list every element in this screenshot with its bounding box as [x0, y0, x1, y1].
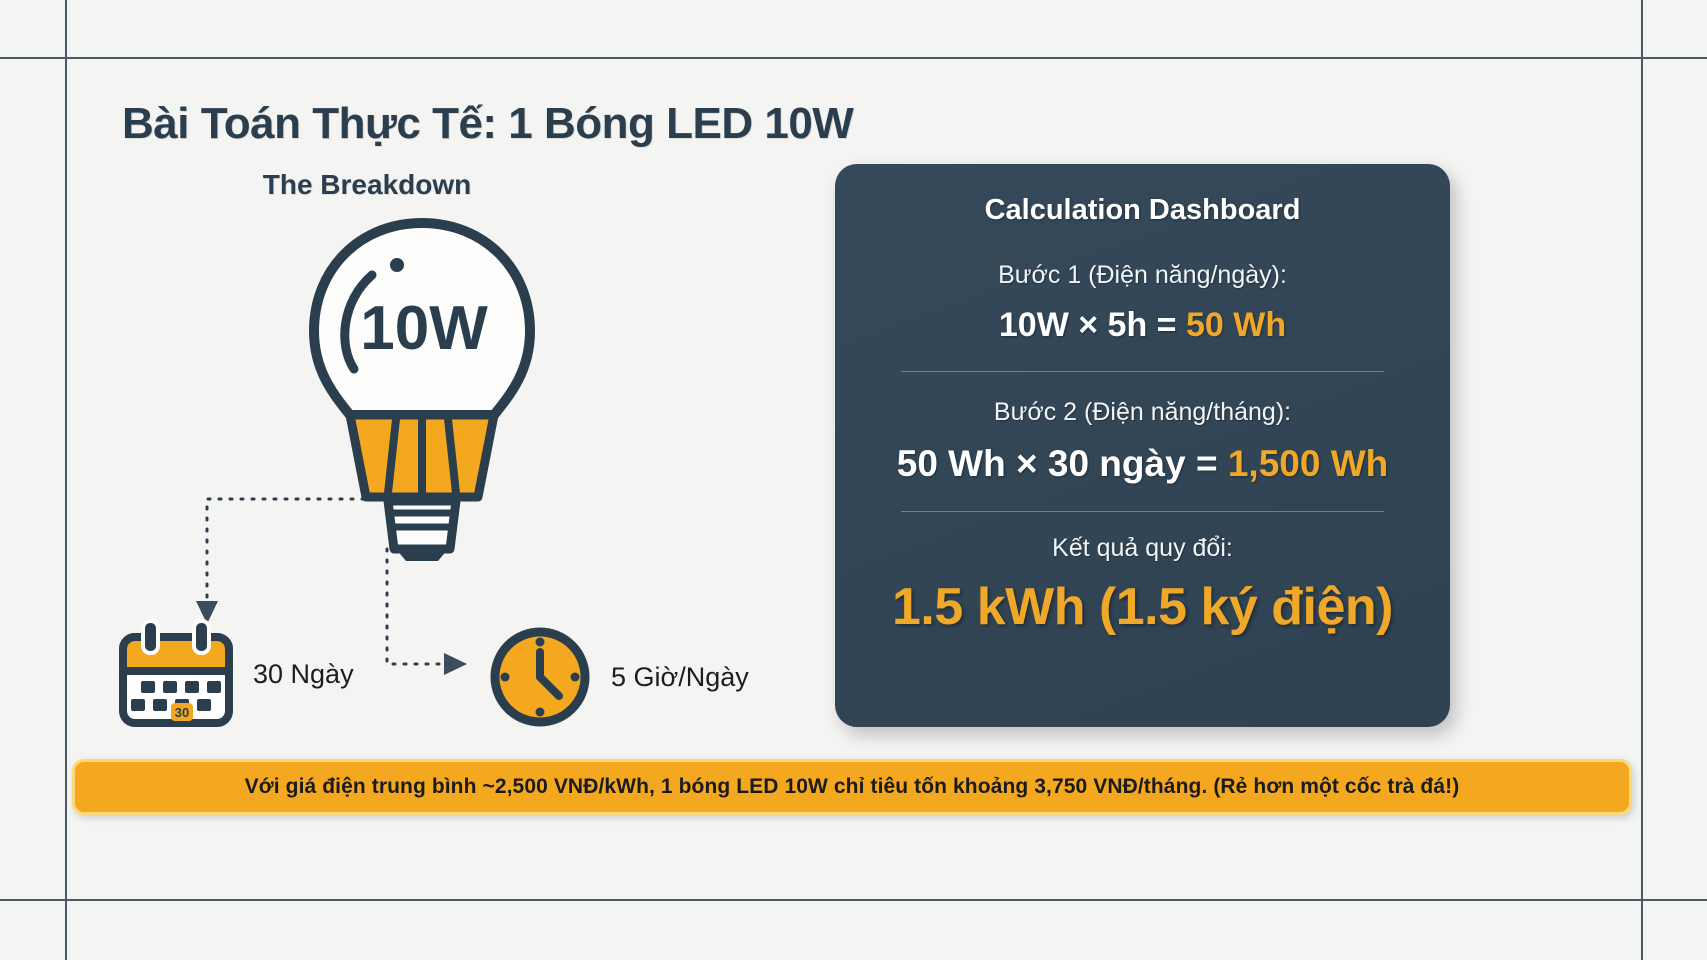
bulb-shine-dot: [390, 258, 404, 272]
step-1-equation: 10W × 5h = 50 Wh: [865, 306, 1420, 345]
dashboard-divider-1: [901, 371, 1384, 372]
page-title: Bài Toán Thực Tế: 1 Bóng LED 10W: [122, 99, 853, 149]
calendar-icon: 30: [117, 619, 235, 729]
frame-guide-line-left: [65, 0, 67, 960]
step-2-label: Bước 2 (Điện năng/tháng):: [865, 398, 1420, 427]
metric-hours-label: 5 Giờ/Ngày: [611, 662, 749, 693]
bulb-wattage-label: 10W: [360, 294, 488, 363]
frame-guide-line-right: [1641, 0, 1643, 960]
calendar-day-badge: 30: [175, 705, 189, 720]
step-1-equation-prefix: 10W × 5h =: [999, 306, 1186, 344]
step-1-equation-result: 50 Wh: [1186, 306, 1286, 344]
breakdown-heading: The Breakdown: [87, 169, 647, 201]
cost-summary-text: Với giá điện trung bình ~2,500 VNĐ/kWh, …: [245, 775, 1460, 799]
step-2-equation: 50 Wh × 30 ngày = 1,500 Wh: [865, 443, 1420, 485]
result-label: Kết quả quy đổi:: [865, 534, 1420, 563]
bulb-contact-tip: [396, 549, 448, 561]
infographic-canvas: Bài Toán Thực Tế: 1 Bóng LED 10W The Bre…: [67, 59, 1641, 899]
breakdown-section: The Breakdown: [87, 169, 847, 789]
dashboard-title: Calculation Dashboard: [985, 194, 1301, 227]
metric-hours: 5 Giờ/Ngày: [487, 624, 749, 730]
metric-days-label: 30 Ngày: [253, 659, 354, 690]
dashboard-divider-2: [901, 511, 1384, 512]
infographic-page: Bài Toán Thực Tế: 1 Bóng LED 10W The Bre…: [0, 0, 1707, 960]
metric-days: 30 30 Ngày: [117, 619, 354, 729]
calculation-result: Kết quả quy đổi: 1.5 kWh (1.5 ký điện): [865, 534, 1420, 637]
clock-icon: [487, 624, 593, 730]
step-2-equation-result: 1,500 Wh: [1228, 443, 1388, 484]
frame-guide-line-bottom: [0, 899, 1707, 901]
step-2-equation-prefix: 50 Wh × 30 ngày =: [897, 443, 1228, 484]
frame-guide-line-top: [0, 57, 1707, 59]
step-1-label: Bước 1 (Điện năng/ngày):: [865, 261, 1420, 290]
result-value: 1.5 kWh (1.5 ký điện): [865, 577, 1420, 637]
calculation-step-1: Bước 1 (Điện năng/ngày): 10W × 5h = 50 W…: [865, 261, 1420, 345]
led-bulb-illustration: 10W: [292, 209, 552, 569]
calculation-dashboard: Calculation Dashboard Bước 1 (Điện năng/…: [835, 164, 1450, 727]
calculation-step-2: Bước 2 (Điện năng/tháng): 50 Wh × 30 ngà…: [865, 398, 1420, 485]
cost-summary-banner: Với giá điện trung bình ~2,500 VNĐ/kWh, …: [72, 759, 1632, 815]
